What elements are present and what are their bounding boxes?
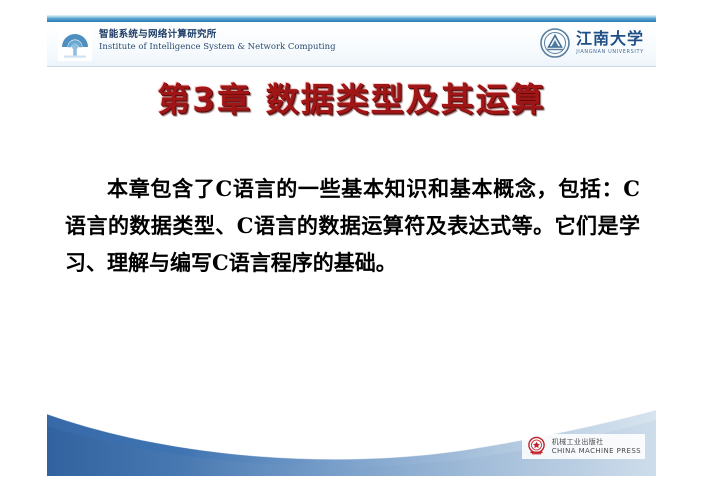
university-name-cn: 江南大学 bbox=[576, 31, 644, 47]
publisher-name-cn: 机械工业出版社 bbox=[552, 438, 641, 446]
slide-title: 第3章 数据类型及其运算 bbox=[47, 73, 656, 121]
university-name-block: 江南大学 JIANGNAN UNIVERSITY bbox=[576, 31, 644, 55]
slide-canvas: 智能系统与网络计算研究所 Institute of Intelligence S… bbox=[0, 0, 702, 496]
university-seal-icon bbox=[540, 28, 570, 58]
publisher-name-block: 机械工业出版社 CHINA MACHINE PRESS bbox=[552, 438, 641, 455]
china-machine-press-seal-icon bbox=[526, 436, 547, 457]
presentation-slide: 智能系统与网络计算研究所 Institute of Intelligence S… bbox=[47, 15, 656, 476]
slide-header: 智能系统与网络计算研究所 Institute of Intelligence S… bbox=[47, 22, 656, 67]
top-accent-bar-sheen bbox=[47, 15, 656, 18]
university-brand-block: 江南大学 JIANGNAN UNIVERSITY bbox=[540, 28, 644, 58]
institute-name-cn: 智能系统与网络计算研究所 bbox=[99, 29, 336, 41]
institute-name-en: Institute of Intelligence System & Netwo… bbox=[99, 42, 336, 53]
publisher-name-en: CHINA MACHINE PRESS bbox=[552, 447, 641, 455]
university-name-en: JIANGNAN UNIVERSITY bbox=[576, 49, 644, 55]
institute-name-block: 智能系统与网络计算研究所 Institute of Intelligence S… bbox=[99, 29, 336, 53]
top-accent-bar bbox=[47, 15, 656, 22]
publisher-badge: 机械工业出版社 CHINA MACHINE PRESS bbox=[522, 434, 645, 459]
antenna-arc-icon bbox=[58, 27, 92, 61]
slide-body-text: 本章包含了C语言的一些基本知识和基本概念，包括：C语言的数据类型、C语言的数据运… bbox=[65, 170, 640, 281]
